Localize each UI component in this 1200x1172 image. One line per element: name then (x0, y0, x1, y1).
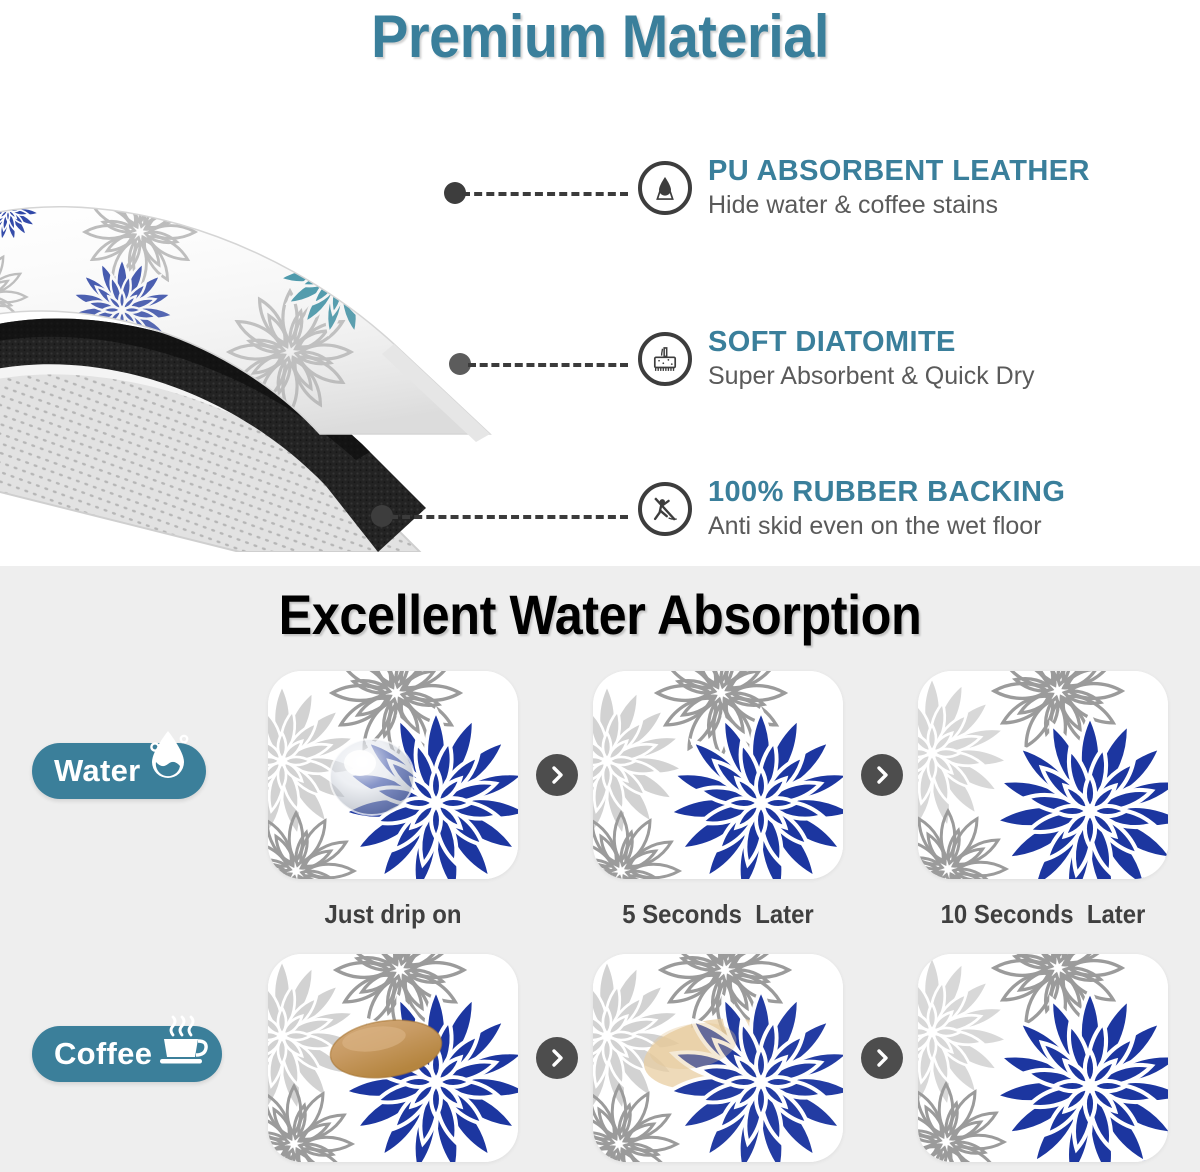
feature-soft-diatomite: SOFT DIATOMITE Super Absorbent & Quick D… (638, 326, 1035, 391)
coffee-cell-1 (268, 954, 518, 1162)
leader-line-bottom (390, 515, 628, 519)
water-drop-icon (144, 738, 192, 805)
water-cell-1 (268, 671, 518, 879)
chevron-right-icon-3 (536, 1037, 578, 1079)
feature-rubber-backing: 100% RUBBER BACKING Anti skid even on th… (638, 476, 1065, 541)
feature-title: 100% RUBBER BACKING (708, 476, 1065, 508)
water-cell-3 (918, 671, 1168, 879)
feature-subtitle: Anti skid even on the wet floor (708, 511, 1065, 541)
feature-subtitle: Super Absorbent & Quick Dry (708, 361, 1035, 391)
leader-line-middle (468, 363, 628, 367)
leader-line-top (462, 192, 628, 196)
water-caption-3: 10 Seconds Later (919, 899, 1167, 930)
no-slip-person-icon (638, 482, 692, 536)
badge-coffee: Coffee (32, 1026, 222, 1082)
absorbent-sponge-mat-icon (638, 332, 692, 386)
product-photo-layered-mat (0, 82, 630, 552)
feature-pu-absorbent-leather: PU ABSORBENT LEATHER Hide water & coffee… (638, 155, 1090, 220)
chevron-right-icon-4 (861, 1037, 903, 1079)
feature-title: SOFT DIATOMITE (708, 326, 1035, 358)
water-absorption-title: Excellent Water Absorption (60, 582, 1140, 647)
water-cell-2 (593, 671, 843, 879)
water-caption-2: 5 Seconds Later (594, 899, 842, 930)
badge-water: Water (32, 743, 206, 799)
coffee-cup-icon (156, 1021, 208, 1088)
premium-material-section: Premium Material (0, 0, 1200, 566)
coffee-cell-2 (593, 954, 843, 1162)
chevron-right-icon-1 (536, 754, 578, 796)
coffee-cell-3 (918, 954, 1168, 1162)
badge-label: Water (54, 753, 140, 789)
feature-title: PU ABSORBENT LEATHER (708, 155, 1090, 187)
water-drop-on-surface-icon (638, 161, 692, 215)
chevron-right-icon-2 (861, 754, 903, 796)
feature-subtitle: Hide water & coffee stains (708, 190, 1090, 220)
premium-material-title: Premium Material (42, 2, 1158, 71)
water-absorption-section: Excellent Water Absorption Water Coffee (0, 566, 1200, 1172)
badge-label: Coffee (54, 1036, 152, 1072)
water-caption-1: Just drip on (269, 899, 517, 930)
